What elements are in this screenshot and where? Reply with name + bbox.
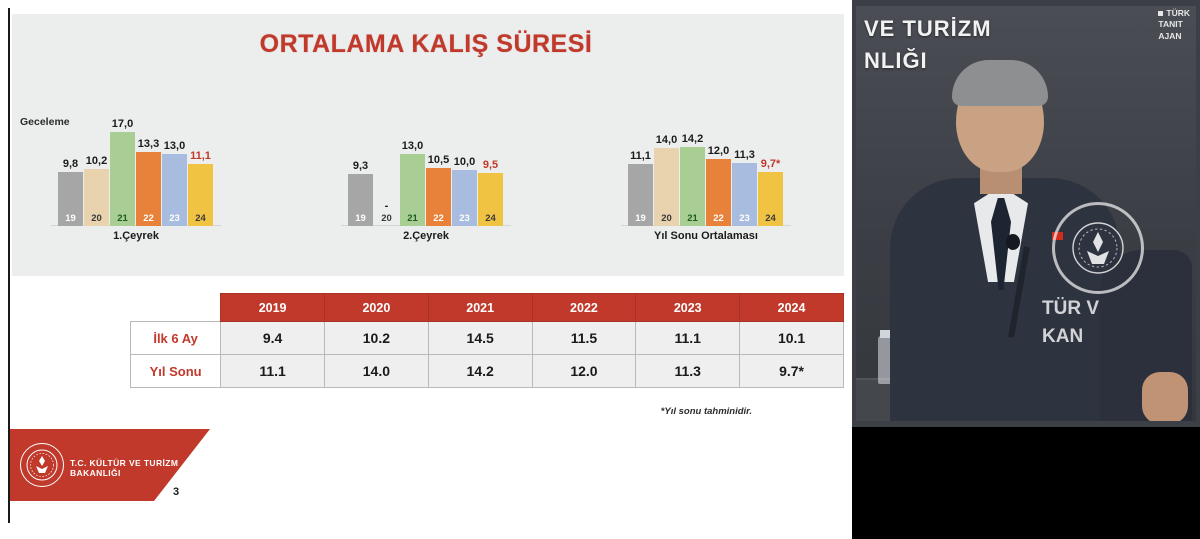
bar-value-label: 13,0: [164, 140, 185, 152]
bar-value-label: 13,0: [402, 140, 423, 152]
bar: 11,1: [628, 164, 653, 226]
slide-content: ORTALAMA KALIŞ SÜRESİ Geceleme 9,81910,2…: [8, 8, 844, 523]
speaker-hair: [952, 60, 1048, 106]
bar: 17,0: [110, 132, 135, 226]
bar-item: 13,023: [162, 126, 187, 226]
bar-group-bars: 11,11914,02014,22112,02211,3239,7*24: [628, 126, 783, 226]
bar-item: 13,021: [400, 126, 425, 226]
bar-value-label: 9,3: [353, 160, 368, 172]
table-cell: 9.7*: [740, 355, 844, 388]
table-cell: 14.2: [428, 355, 532, 388]
bar-group-bars: 9,81910,22017,02113,32213,02311,124: [58, 126, 213, 226]
bar: 13,0: [162, 154, 187, 226]
bar-item: 14,221: [680, 126, 705, 226]
table-row-header: Yıl Sonu: [131, 355, 221, 388]
bar-value-label: 9,7*: [761, 158, 781, 170]
bar-value-label: 10,2: [86, 155, 107, 167]
bar-item: 9,319: [348, 126, 373, 226]
table-column-header: 2019: [221, 294, 325, 322]
bar-item: 12,022: [706, 126, 731, 226]
table-body: İlk 6 Ay9.410.214.511.511.110.1Yıl Sonu1…: [131, 322, 844, 388]
bar-item: 9,819: [58, 126, 83, 226]
table-header: 201920202021202220232024: [131, 294, 844, 322]
corner-logo-line-3: AJAN: [1158, 31, 1190, 42]
table-column-header: 2023: [636, 294, 740, 322]
bar: 9,8: [58, 172, 83, 226]
bar-group: 9,81910,22017,02113,32213,02311,1241.Çey…: [58, 126, 214, 226]
bar-value-label: 17,0: [112, 118, 133, 130]
backdrop-text-line-2: NLIĞI: [864, 48, 928, 74]
bar: 14,0: [654, 148, 679, 226]
bar-item: 17,021: [110, 126, 135, 226]
bar-item: 14,020: [654, 126, 679, 226]
bar-item: 10,023: [452, 126, 477, 226]
table-column-header: 2020: [325, 294, 429, 322]
bar-item: 11,323: [732, 126, 757, 226]
table-cell: 12.0: [532, 355, 636, 388]
bar-value-label: 11,1: [630, 150, 651, 162]
bar: 10,0: [452, 170, 477, 226]
bar-item: 13,322: [136, 126, 161, 226]
backdrop-emblem-icon: [1052, 202, 1144, 294]
bar-category-label: 20: [381, 213, 392, 224]
bar-value-label: 13,3: [138, 138, 159, 150]
bar: 10,2: [84, 169, 109, 226]
bar-value-label: 14,2: [682, 133, 703, 145]
bar: 11,1: [188, 164, 213, 226]
microphone-icon: [1006, 234, 1020, 250]
bar-group-label: 1.Çeyrek: [58, 230, 214, 242]
bar-item: 10,522: [426, 126, 451, 226]
bar: 12,0: [706, 159, 731, 226]
table-row-header: İlk 6 Ay: [131, 322, 221, 355]
corner-logo-line-2: TANIT: [1158, 19, 1190, 30]
bar-value-label: 9,5: [483, 159, 498, 171]
table-cell: 10.1: [740, 322, 844, 355]
bar-group-label: Yıl Sonu Ortalaması: [628, 230, 784, 242]
bar-value-label: 11,3: [734, 149, 755, 161]
table-cell: 9.4: [221, 322, 325, 355]
video-panel[interactable]: TÜR V KAN VE TURİZM NLIĞI TÜRK TANIT AJA…: [852, 0, 1200, 539]
bar-item: 11,124: [188, 126, 213, 226]
bar-item: 11,119: [628, 126, 653, 226]
table-column-header: 2024: [740, 294, 844, 322]
ministry-emblem-icon: [20, 443, 64, 487]
bar: 9,3: [348, 174, 373, 226]
table-cell: 11.1: [221, 355, 325, 388]
footer-ministry-text: T.C. KÜLTÜR VE TURİZM BAKANLIĞI: [70, 458, 178, 479]
footer-line-1: T.C. KÜLTÜR VE TURİZM: [70, 458, 178, 469]
table-cell: 14.5: [428, 322, 532, 355]
speaker-hand: [1142, 372, 1188, 421]
bar: 13,3: [136, 152, 161, 226]
page-number: 3: [173, 486, 179, 498]
table-column-header: 2021: [428, 294, 532, 322]
page-title: ORTALAMA KALIŞ SÜRESİ: [10, 30, 842, 59]
corner-logo-line-1: TÜRK: [1158, 8, 1190, 19]
presentation-slide: ORTALAMA KALIŞ SÜRESİ Geceleme 9,81910,2…: [0, 0, 852, 539]
table-cell: 11.1: [636, 322, 740, 355]
corner-logo-square-icon: [1158, 11, 1163, 16]
bar: 11,3: [732, 163, 757, 226]
bar: 9,7*: [758, 172, 783, 226]
bar-group: 9,319-2013,02110,52210,0239,5242.Çeyrek: [348, 126, 504, 226]
bar-value-label: -: [385, 200, 389, 212]
screen: ORTALAMA KALIŞ SÜRESİ Geceleme 9,81910,2…: [0, 0, 1200, 539]
table-column-header: 2022: [532, 294, 636, 322]
bar-chart: 9,81910,22017,02113,32213,02311,1241.Çey…: [28, 126, 828, 226]
bar: 10,5: [426, 168, 451, 226]
video-frame[interactable]: TÜR V KAN VE TURİZM NLIĞI TÜRK TANIT AJA…: [856, 6, 1196, 421]
table-cell: 14.0: [325, 355, 429, 388]
bar-item: 9,7*24: [758, 126, 783, 226]
bar-value-label: 11,1: [190, 150, 211, 162]
table-cell: 11.5: [532, 322, 636, 355]
table-corner-cell: [131, 294, 221, 322]
backdrop-text-line-1: VE TURİZM: [864, 16, 992, 42]
bar-value-label: 9,8: [63, 158, 78, 170]
bar-group-bars: 9,319-2013,02110,52210,0239,524: [348, 126, 503, 226]
bar-item: 9,524: [478, 126, 503, 226]
bar-value-label: 12,0: [708, 145, 729, 157]
bar-group: 11,11914,02014,22112,02211,3239,7*24Yıl …: [628, 126, 784, 226]
bar-item: 10,220: [84, 126, 109, 226]
table-footnote: *Yıl sonu tahminidir.: [10, 406, 840, 417]
bar-value-label: 10,5: [428, 154, 449, 166]
table-cell: 10.2: [325, 322, 429, 355]
table-row: Yıl Sonu11.114.014.212.011.39.7*: [131, 355, 844, 388]
video-letterbox-bottom: [852, 427, 1200, 539]
footer-line-2: BAKANLIĞI: [70, 468, 178, 479]
backdrop-ministry-line-1: TÜR V: [1042, 298, 1099, 320]
bar-group-label: 2.Çeyrek: [348, 230, 504, 242]
backdrop-ministry-line-2: KAN: [1042, 326, 1083, 348]
bar: 9,5: [478, 173, 503, 226]
bar-value-label: 10,0: [454, 156, 475, 168]
table-header-row: 201920202021202220232024: [131, 294, 844, 322]
backdrop-corner-logo: TÜRK TANIT AJAN: [1158, 8, 1190, 42]
bar-item: -20: [374, 126, 399, 226]
table-row: İlk 6 Ay9.410.214.511.511.110.1: [131, 322, 844, 355]
bar: 13,0: [400, 154, 425, 226]
data-table: 201920202021202220232024 İlk 6 Ay9.410.2…: [130, 293, 844, 388]
table-cell: 11.3: [636, 355, 740, 388]
bar: 14,2: [680, 147, 705, 226]
bar-value-label: 14,0: [656, 134, 677, 146]
